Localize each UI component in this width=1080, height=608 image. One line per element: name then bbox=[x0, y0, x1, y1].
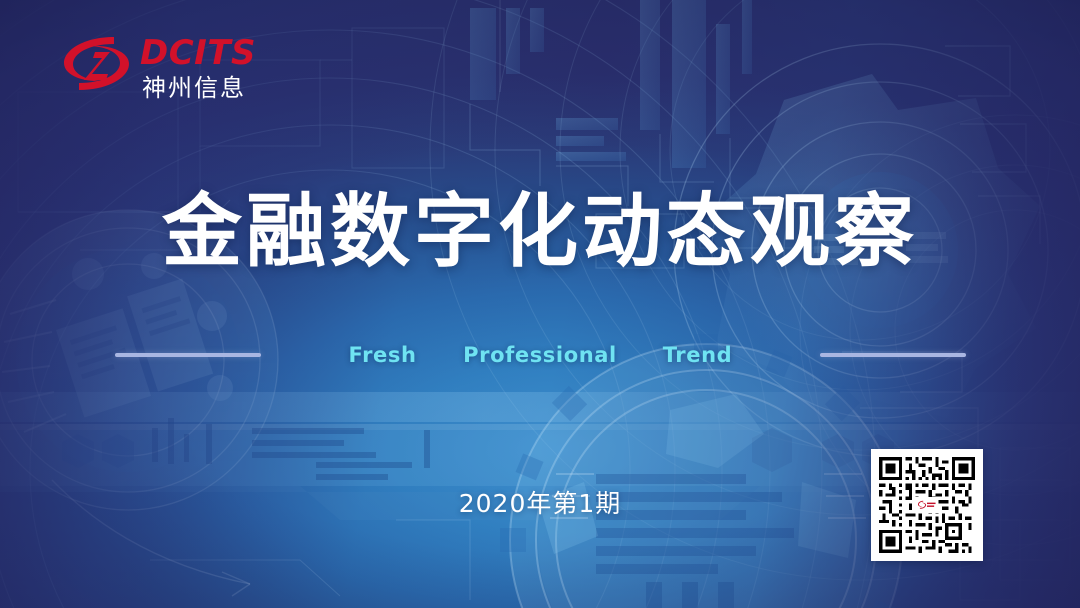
tagline-rule-left bbox=[115, 353, 261, 357]
dcits-logo: DCITS 神州信息 bbox=[62, 30, 272, 108]
svg-text:神州信息: 神州信息 bbox=[142, 74, 246, 102]
page-title: 金融数字化动态观察 bbox=[0, 186, 1080, 278]
tagline-trend: Trend bbox=[628, 343, 768, 367]
poster-canvas: DCITS 神州信息 金融数字化动态观察 Fresh Professional … bbox=[0, 0, 1080, 608]
svg-text:DCITS: DCITS bbox=[140, 33, 256, 73]
wechat-qr-code[interactable] bbox=[871, 449, 983, 561]
tagline-fresh: Fresh bbox=[313, 343, 453, 367]
tagline-rule-right bbox=[820, 353, 966, 357]
qr-center-logo bbox=[916, 497, 939, 513]
tagline-row: Fresh Professional Trend bbox=[0, 338, 1080, 372]
tagline-professional: Professional bbox=[453, 343, 628, 367]
dcits-swirl-icon bbox=[64, 37, 129, 90]
